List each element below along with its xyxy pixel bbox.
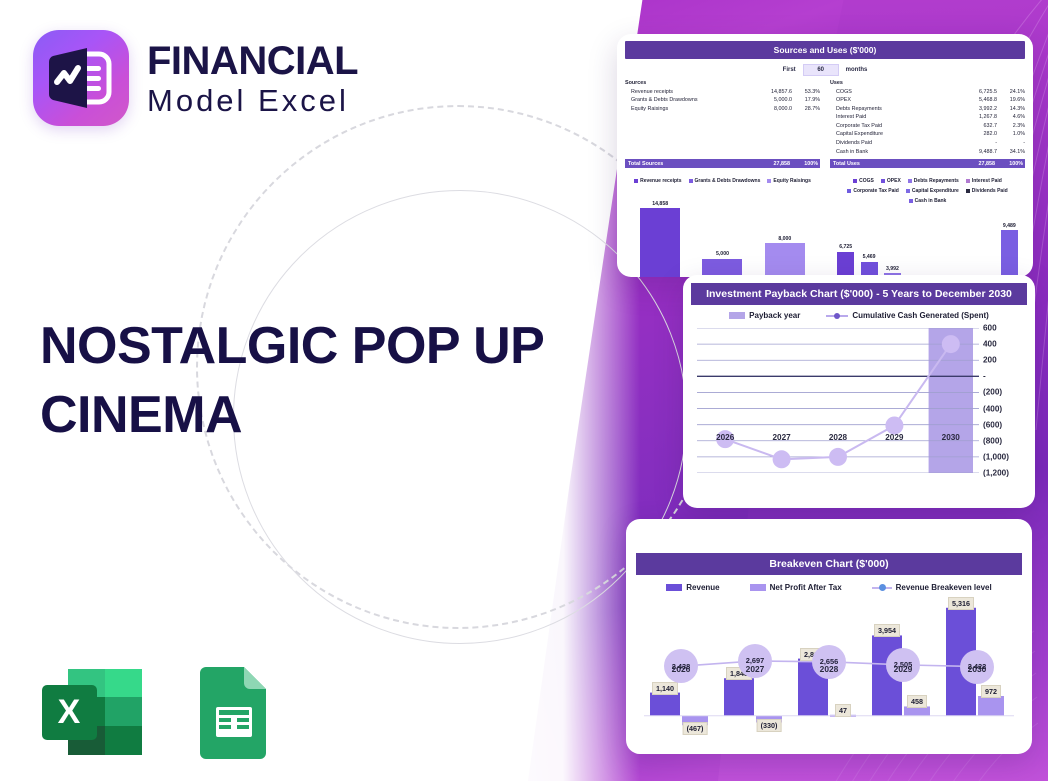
sources-column: Sources Revenue receipts14,857.653.3%Gra… xyxy=(625,80,820,168)
y-tick-label: 600 xyxy=(983,324,997,333)
row-value: 6,725.5 xyxy=(959,88,997,97)
y-tick-label: (200) xyxy=(983,388,1002,397)
table-row: COGS6,725.524.1% xyxy=(830,88,1025,97)
row-label: Debts Repayments xyxy=(836,105,959,114)
y-tick-label: 200 xyxy=(983,356,997,365)
payback-x-axis-labels: 20262027202820292030 xyxy=(697,433,979,442)
uses-heading: Uses xyxy=(830,80,1025,86)
bar-column: 282 xyxy=(954,204,971,277)
table-row: Dividends Paid-- xyxy=(830,139,1025,148)
row-label: Corporate Tax Paid xyxy=(836,122,959,131)
npat-value-label: (467) xyxy=(683,722,708,735)
uses-bar-chart: 6,7255,4693,9921,26863328209,489 xyxy=(830,204,1025,277)
sources-bar-chart: 14,8585,0008,000 xyxy=(625,184,820,277)
legend-swatch xyxy=(966,179,970,183)
bar-value-label: 5,469 xyxy=(863,254,876,260)
breakeven-x-axis-labels: 20262027202820292030 xyxy=(644,664,1014,674)
revenue-value-label: 3,954 xyxy=(874,624,900,637)
legend-swatch-breakeven-line xyxy=(872,587,892,589)
row-value: - xyxy=(959,139,997,148)
cumulative-cash-line xyxy=(725,344,951,459)
x-tick-label: 2029 xyxy=(866,664,940,674)
y-tick-label: (600) xyxy=(983,420,1002,429)
legend-item: Debts Repayments xyxy=(908,178,959,184)
total-uses-row: Total Uses 27,858 100% xyxy=(830,159,1025,168)
legend-item: Interest Paid xyxy=(966,178,1002,184)
row-label: Grants & Debts Drawdowns xyxy=(631,96,754,105)
legend-swatch xyxy=(634,179,638,183)
legend-breakeven-level: Revenue Breakeven level xyxy=(872,583,992,592)
sources-uses-title: Sources and Uses ($'000) xyxy=(625,41,1025,59)
breakeven-legend: Revenue Net Profit After Tax Revenue Bre… xyxy=(626,583,1032,592)
x-tick-label: 2030 xyxy=(942,433,960,442)
bar-rect xyxy=(765,243,805,277)
card-breakeven-chart[interactable]: Breakeven Chart ($'000) Revenue Net Prof… xyxy=(626,519,1032,754)
bar-column: 633 xyxy=(931,204,948,277)
legend-label: COGS xyxy=(859,178,874,184)
legend-swatch xyxy=(689,179,693,183)
row-percent: 2.3% xyxy=(997,122,1025,131)
y-tick-label: - xyxy=(983,372,986,381)
row-value: 9,488.7 xyxy=(959,148,997,157)
row-value: 3,992.2 xyxy=(959,105,997,114)
bar-value-label: 3,992 xyxy=(886,266,899,272)
table-row: Grants & Debts Drawdowns5,000.017.9% xyxy=(625,96,820,105)
npat-bar xyxy=(978,696,1004,716)
uses-column: Uses COGS6,725.524.1%OPEX5,468.819.6%Deb… xyxy=(830,80,1025,168)
legend-label: OPEX xyxy=(887,178,901,184)
row-percent: 19.6% xyxy=(997,96,1025,105)
x-tick-label: 2026 xyxy=(644,664,718,674)
y-tick-label: (800) xyxy=(983,436,1002,445)
months-input[interactable]: 60 xyxy=(803,64,839,76)
row-value: 5,000.0 xyxy=(754,96,792,105)
bar-column: 6,725 xyxy=(837,204,854,277)
logo-title-line2: Model Excel xyxy=(147,85,358,116)
bar-value-label: 14,858 xyxy=(652,201,668,207)
y-tick-label: 400 xyxy=(983,340,997,349)
row-percent: 14.3% xyxy=(997,105,1025,114)
legend-item: OPEX xyxy=(881,178,901,184)
legend-swatch xyxy=(847,189,851,193)
y-tick-label: (1,200) xyxy=(983,469,1009,478)
row-label: Revenue receipts xyxy=(631,88,754,97)
legend-swatch-revenue xyxy=(666,584,682,591)
legend-swatch-bar xyxy=(729,312,745,319)
payback-title: Investment Payback Chart ($'000) - 5 Yea… xyxy=(691,283,1027,305)
row-label: Cash in Bank xyxy=(836,148,959,157)
bar-column: 5,000 xyxy=(702,184,742,277)
legend-swatch xyxy=(908,179,912,183)
table-spacer xyxy=(625,113,820,122)
payback-legend: Payback year Cumulative Cash Generated (… xyxy=(683,311,1035,320)
legend-item: Dividends Paid xyxy=(966,188,1008,194)
legend-revenue: Revenue xyxy=(666,583,719,592)
period-suffix-label: months xyxy=(846,67,868,73)
row-label: Capital Expenditure xyxy=(836,130,959,139)
google-sheets-icon xyxy=(192,663,276,761)
table-row: Debts Repayments3,992.214.3% xyxy=(830,105,1025,114)
total-sources-label: Total Sources xyxy=(628,161,752,167)
legend-swatch xyxy=(853,179,857,183)
brand-logo: FINANCIAL Model Excel xyxy=(33,30,358,126)
card-sources-and-uses[interactable]: Sources and Uses ($'000) First 60 months… xyxy=(617,34,1033,277)
total-uses-value: 27,858 xyxy=(957,161,995,167)
legend-label: Corporate Tax Paid xyxy=(853,188,898,194)
row-percent: 24.1% xyxy=(997,88,1025,97)
x-tick-label: 2026 xyxy=(716,433,734,442)
microsoft-excel-icon: X xyxy=(38,663,150,761)
row-value: 8,000.0 xyxy=(754,105,792,114)
row-percent: 28.7% xyxy=(792,105,820,114)
revenue-bar xyxy=(724,678,754,716)
row-label: Dividends Paid xyxy=(836,139,959,148)
legend-swatch-line xyxy=(826,315,848,317)
row-value: 282.0 xyxy=(959,130,997,139)
row-value: 632.7 xyxy=(959,122,997,131)
legend-label: Dividends Paid xyxy=(972,188,1008,194)
bar-rect xyxy=(837,252,854,277)
legend-item: Capital Expenditure xyxy=(906,188,959,194)
x-tick-label: 2030 xyxy=(940,664,1014,674)
row-percent: 17.9% xyxy=(792,96,820,105)
x-tick-label: 2028 xyxy=(829,433,847,442)
legend-swatch xyxy=(767,179,771,183)
total-uses-label: Total Uses xyxy=(833,161,957,167)
page-title: NOSTALGIC POP UP CINEMA xyxy=(40,312,580,449)
table-spacer xyxy=(625,130,820,139)
row-value: 5,468.8 xyxy=(959,96,997,105)
sources-heading: Sources xyxy=(625,80,820,86)
legend-swatch-npat xyxy=(750,584,766,591)
period-prefix-label: First xyxy=(783,67,796,73)
total-sources-row: Total Sources 27,858 100% xyxy=(625,159,820,168)
row-percent: 1.0% xyxy=(997,130,1025,139)
legend-label: Interest Paid xyxy=(972,178,1002,184)
table-spacer xyxy=(625,139,820,148)
uses-chart-legend: COGSOPEXDebts RepaymentsInterest PaidCor… xyxy=(830,178,1025,204)
x-tick-label: 2027 xyxy=(772,433,790,442)
bar-column: 14,858 xyxy=(640,184,680,277)
data-point xyxy=(942,335,960,353)
table-spacer xyxy=(625,122,820,131)
bar-value-label: 5,000 xyxy=(716,251,729,257)
svg-text:X: X xyxy=(58,693,81,731)
row-percent: 4.6% xyxy=(997,113,1025,122)
bar-column: 3,992 xyxy=(884,204,901,277)
table-row: Capital Expenditure282.01.0% xyxy=(830,130,1025,139)
legend-payback-year: Payback year xyxy=(729,311,800,320)
row-value: 14,857.6 xyxy=(754,88,792,97)
card-investment-payback[interactable]: Investment Payback Chart ($'000) - 5 Yea… xyxy=(683,275,1035,508)
slide-canvas: FINANCIAL Model Excel NOSTALGIC POP UP C… xyxy=(0,0,1048,781)
npat-value-label: 47 xyxy=(835,704,851,717)
legend-item: COGS xyxy=(853,178,874,184)
revenue-bar xyxy=(650,693,680,716)
npat-value-label: 972 xyxy=(981,685,1001,698)
total-sources-pct: 100% xyxy=(790,161,820,167)
revenue-value-label: 5,316 xyxy=(948,597,974,610)
legend-cumulative-cash: Cumulative Cash Generated (Spent) xyxy=(826,311,988,320)
row-percent: - xyxy=(997,139,1025,148)
legend-swatch xyxy=(966,189,970,193)
table-row: Equity Raisings8,000.028.7% xyxy=(625,105,820,114)
row-value: 1,267.8 xyxy=(959,113,997,122)
bar-value-label: 6,725 xyxy=(839,244,852,250)
total-sources-value: 27,858 xyxy=(752,161,790,167)
revenue-value-label: 1,140 xyxy=(652,682,678,695)
legend-swatch xyxy=(909,199,913,203)
data-point xyxy=(829,448,847,466)
bar-value-label: 9,489 xyxy=(1003,223,1016,229)
period-selector-row: First 60 months xyxy=(625,64,1025,76)
bar-rect xyxy=(640,208,680,277)
row-label: Equity Raisings xyxy=(631,105,754,114)
data-point xyxy=(773,450,791,468)
legend-label: Capital Expenditure xyxy=(912,188,959,194)
table-row: Corporate Tax Paid632.72.3% xyxy=(830,122,1025,131)
table-row: Cash in Bank9,488.734.1% xyxy=(830,148,1025,157)
npat-value-label: 458 xyxy=(907,695,927,708)
total-uses-pct: 100% xyxy=(995,161,1025,167)
file-format-icons: X xyxy=(38,663,276,761)
legend-swatch xyxy=(881,179,885,183)
bar-column: 8,000 xyxy=(765,184,805,277)
row-label: COGS xyxy=(836,88,959,97)
legend-label: Debts Repayments xyxy=(914,178,959,184)
payback-plot-area: 600400200-(200)(400)(600)(800)(1,000)(1,… xyxy=(697,328,979,473)
y-tick-label: (400) xyxy=(983,404,1002,413)
row-percent: 34.1% xyxy=(997,148,1025,157)
bar-column: 5,469 xyxy=(861,204,878,277)
bar-rect xyxy=(1001,230,1018,277)
table-row: OPEX5,468.819.6% xyxy=(830,96,1025,105)
data-point xyxy=(885,416,903,434)
table-row: Interest Paid1,267.84.6% xyxy=(830,113,1025,122)
legend-item: Corporate Tax Paid xyxy=(847,188,898,194)
npat-value-label: (330) xyxy=(757,719,782,732)
row-percent: 53.3% xyxy=(792,88,820,97)
table-spacer xyxy=(625,148,820,157)
row-label: OPEX xyxy=(836,96,959,105)
bar-column: 9,489 xyxy=(1001,204,1018,277)
uses-chart: COGSOPEXDebts RepaymentsInterest PaidCor… xyxy=(830,172,1025,277)
financial-model-app-icon xyxy=(33,30,129,126)
bar-value-label: 8,000 xyxy=(778,236,791,242)
x-tick-label: 2027 xyxy=(718,664,792,674)
sources-chart: Revenue receiptsGrants & Debts Drawdowns… xyxy=(625,172,820,277)
legend-swatch xyxy=(906,189,910,193)
table-row: Revenue receipts14,857.653.3% xyxy=(625,88,820,97)
legend-npat: Net Profit After Tax xyxy=(750,583,842,592)
x-tick-label: 2028 xyxy=(792,664,866,674)
bar-column: 1,268 xyxy=(907,204,924,277)
breakeven-title: Breakeven Chart ($'000) xyxy=(636,553,1022,575)
x-tick-label: 2029 xyxy=(885,433,903,442)
payback-y-axis-labels: 600400200-(200)(400)(600)(800)(1,000)(1,… xyxy=(981,328,1031,473)
logo-title-line1: FINANCIAL xyxy=(147,41,358,81)
bar-column: 0 xyxy=(977,204,994,277)
row-label: Interest Paid xyxy=(836,113,959,122)
y-tick-label: (1,000) xyxy=(983,452,1009,461)
